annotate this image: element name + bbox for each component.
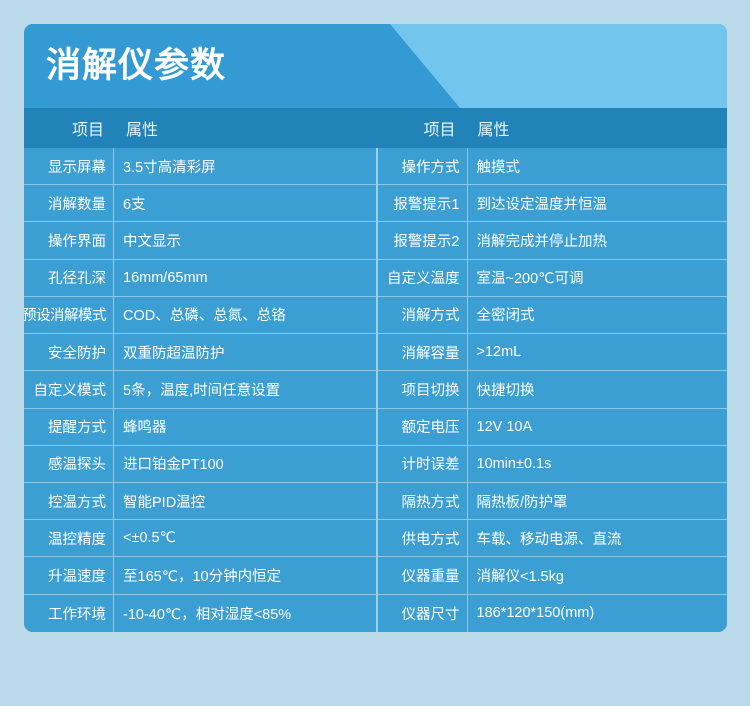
spec-value-cell: 消解仪<1.5kg [468,557,728,593]
spec-value-cell: <±0.5℃ [114,520,376,556]
table-row: 隔热方式隔热板/防护罩 [378,483,728,520]
spec-value-cell: 进口铂金PT100 [114,446,376,482]
table-row: 仪器重量消解仪<1.5kg [378,557,728,594]
table-row: 工作环境-10-40℃，相对湿度<85% [24,595,376,632]
table-row: 感温探头进口铂金PT100 [24,446,376,483]
spec-label-cell: 额定电压 [378,409,468,445]
spec-label-cell: 消解容量 [378,334,468,370]
table-row: 供电方式车载、移动电源、直流 [378,520,728,557]
table-row: 计时误差10min±0.1s [378,446,728,483]
spec-value-cell: 186*120*150(mm) [468,595,728,632]
spec-label-cell: 消解数量 [24,185,114,221]
spec-value-cell: 消解完成并停止加热 [468,222,728,258]
spec-label-cell: 消解方式 [378,297,468,333]
table-row: 升温速度至165℃，10分钟内恒定 [24,557,376,594]
spec-value-cell: 蜂鸣器 [114,409,376,445]
spec-value-cell: 智能PID温控 [114,483,376,519]
table-row: 操作界面中文显示 [24,222,376,259]
spec-label-cell: 项目切换 [378,371,468,407]
table-row: 自定义模式5条，温度,时间任意设置 [24,371,376,408]
table-row: 额定电压12V 10A [378,409,728,446]
spec-label-cell: 控温方式 [24,483,114,519]
spec-value-cell: 6支 [114,185,376,221]
column-header-attribute-left: 属性 [114,108,376,148]
spec-value-cell: 到达设定温度并恒温 [468,185,728,221]
spec-label-cell: 计时误差 [378,446,468,482]
spec-label-cell: 显示屏幕 [24,148,114,184]
spec-label-cell: 报警提示2 [378,222,468,258]
spec-label-cell: 隔热方式 [378,483,468,519]
spec-value-cell: 隔热板/防护罩 [468,483,728,519]
spec-value-cell: 车载、移动电源、直流 [468,520,728,556]
table-row: 孔径孔深16mm/65mm [24,260,376,297]
spec-value-cell: 双重防超温防护 [114,334,376,370]
spec-value-cell: 中文显示 [114,222,376,258]
table-row: 报警提示1到达设定温度并恒温 [378,185,728,222]
spec-value-cell: 触摸式 [468,148,728,184]
column-header-band: 项目 属性 项目 属性 [24,108,727,148]
table-row: 自定义温度室温~200℃可调 [378,260,728,297]
spec-table-left-column: 显示屏幕3.5寸高清彩屏消解数量6支操作界面中文显示孔径孔深16mm/65mm预… [24,148,376,632]
column-header-left: 项目 属性 [24,108,376,148]
spec-label-cell: 安全防护 [24,334,114,370]
spec-label-cell: 供电方式 [378,520,468,556]
spec-value-cell: 5条，温度,时间任意设置 [114,371,376,407]
spec-label-cell: 孔径孔深 [24,260,114,296]
table-row: 仪器尺寸186*120*150(mm) [378,595,728,632]
spec-value-cell: 12V 10A [468,409,728,445]
spec-label-cell: 自定义温度 [378,260,468,296]
spec-label-cell: 工作环境 [24,595,114,632]
table-row: 控温方式智能PID温控 [24,483,376,520]
column-header-item-left: 项目 [24,108,114,148]
spec-value-cell: 室温~200℃可调 [468,260,728,296]
spec-value-cell: 16mm/65mm [114,260,376,296]
spec-value-cell: 3.5寸高清彩屏 [114,148,376,184]
table-row: 温控精度<±0.5℃ [24,520,376,557]
spec-value-cell: 全密闭式 [468,297,728,333]
spec-table: 显示屏幕3.5寸高清彩屏消解数量6支操作界面中文显示孔径孔深16mm/65mm预… [24,148,727,632]
spec-label-cell: 报警提示1 [378,185,468,221]
table-row: 提醒方式蜂鸣器 [24,409,376,446]
table-row: 安全防护双重防超温防护 [24,334,376,371]
spec-value-cell: 快捷切换 [468,371,728,407]
spec-value-cell: 10min±0.1s [468,446,728,482]
spec-value-cell: -10-40℃，相对湿度<85% [114,595,376,632]
table-row: 显示屏幕3.5寸高清彩屏 [24,148,376,185]
spec-label-cell: 温控精度 [24,520,114,556]
table-row: 操作方式触摸式 [378,148,728,185]
spec-label-cell: 操作界面 [24,222,114,258]
spec-label-cell: 提醒方式 [24,409,114,445]
spec-table-right-column: 操作方式触摸式报警提示1到达设定温度并恒温报警提示2消解完成并停止加热自定义温度… [376,148,728,632]
table-row: 预设消解模式COD、总磷、总氮、总铬 [24,297,376,334]
spec-card: 消解仪参数 项目 属性 项目 属性 显示屏幕3.5寸高清彩屏消解数量6支操作界面… [24,24,727,632]
spec-label-cell: 升温速度 [24,557,114,593]
table-row: 报警提示2消解完成并停止加热 [378,222,728,259]
spec-label-cell: 自定义模式 [24,371,114,407]
table-row: 消解方式全密闭式 [378,297,728,334]
title-band: 消解仪参数 [24,24,727,108]
table-row: 消解容量>12mL [378,334,728,371]
column-header-attribute-right: 属性 [466,108,728,148]
column-header-right: 项目 属性 [376,108,728,148]
page-title: 消解仪参数 [46,44,226,88]
spec-value-cell: 至165℃，10分钟内恒定 [114,557,376,593]
spec-value-cell: COD、总磷、总氮、总铬 [114,297,376,333]
table-row: 消解数量6支 [24,185,376,222]
column-header-item-right: 项目 [376,108,466,148]
spec-label-cell: 仪器尺寸 [378,595,468,632]
table-row: 项目切换快捷切换 [378,371,728,408]
spec-value-cell: >12mL [468,334,728,370]
spec-label-cell: 操作方式 [378,148,468,184]
spec-label-cell: 预设消解模式 [24,297,114,333]
spec-label-cell: 感温探头 [24,446,114,482]
spec-label-cell: 仪器重量 [378,557,468,593]
